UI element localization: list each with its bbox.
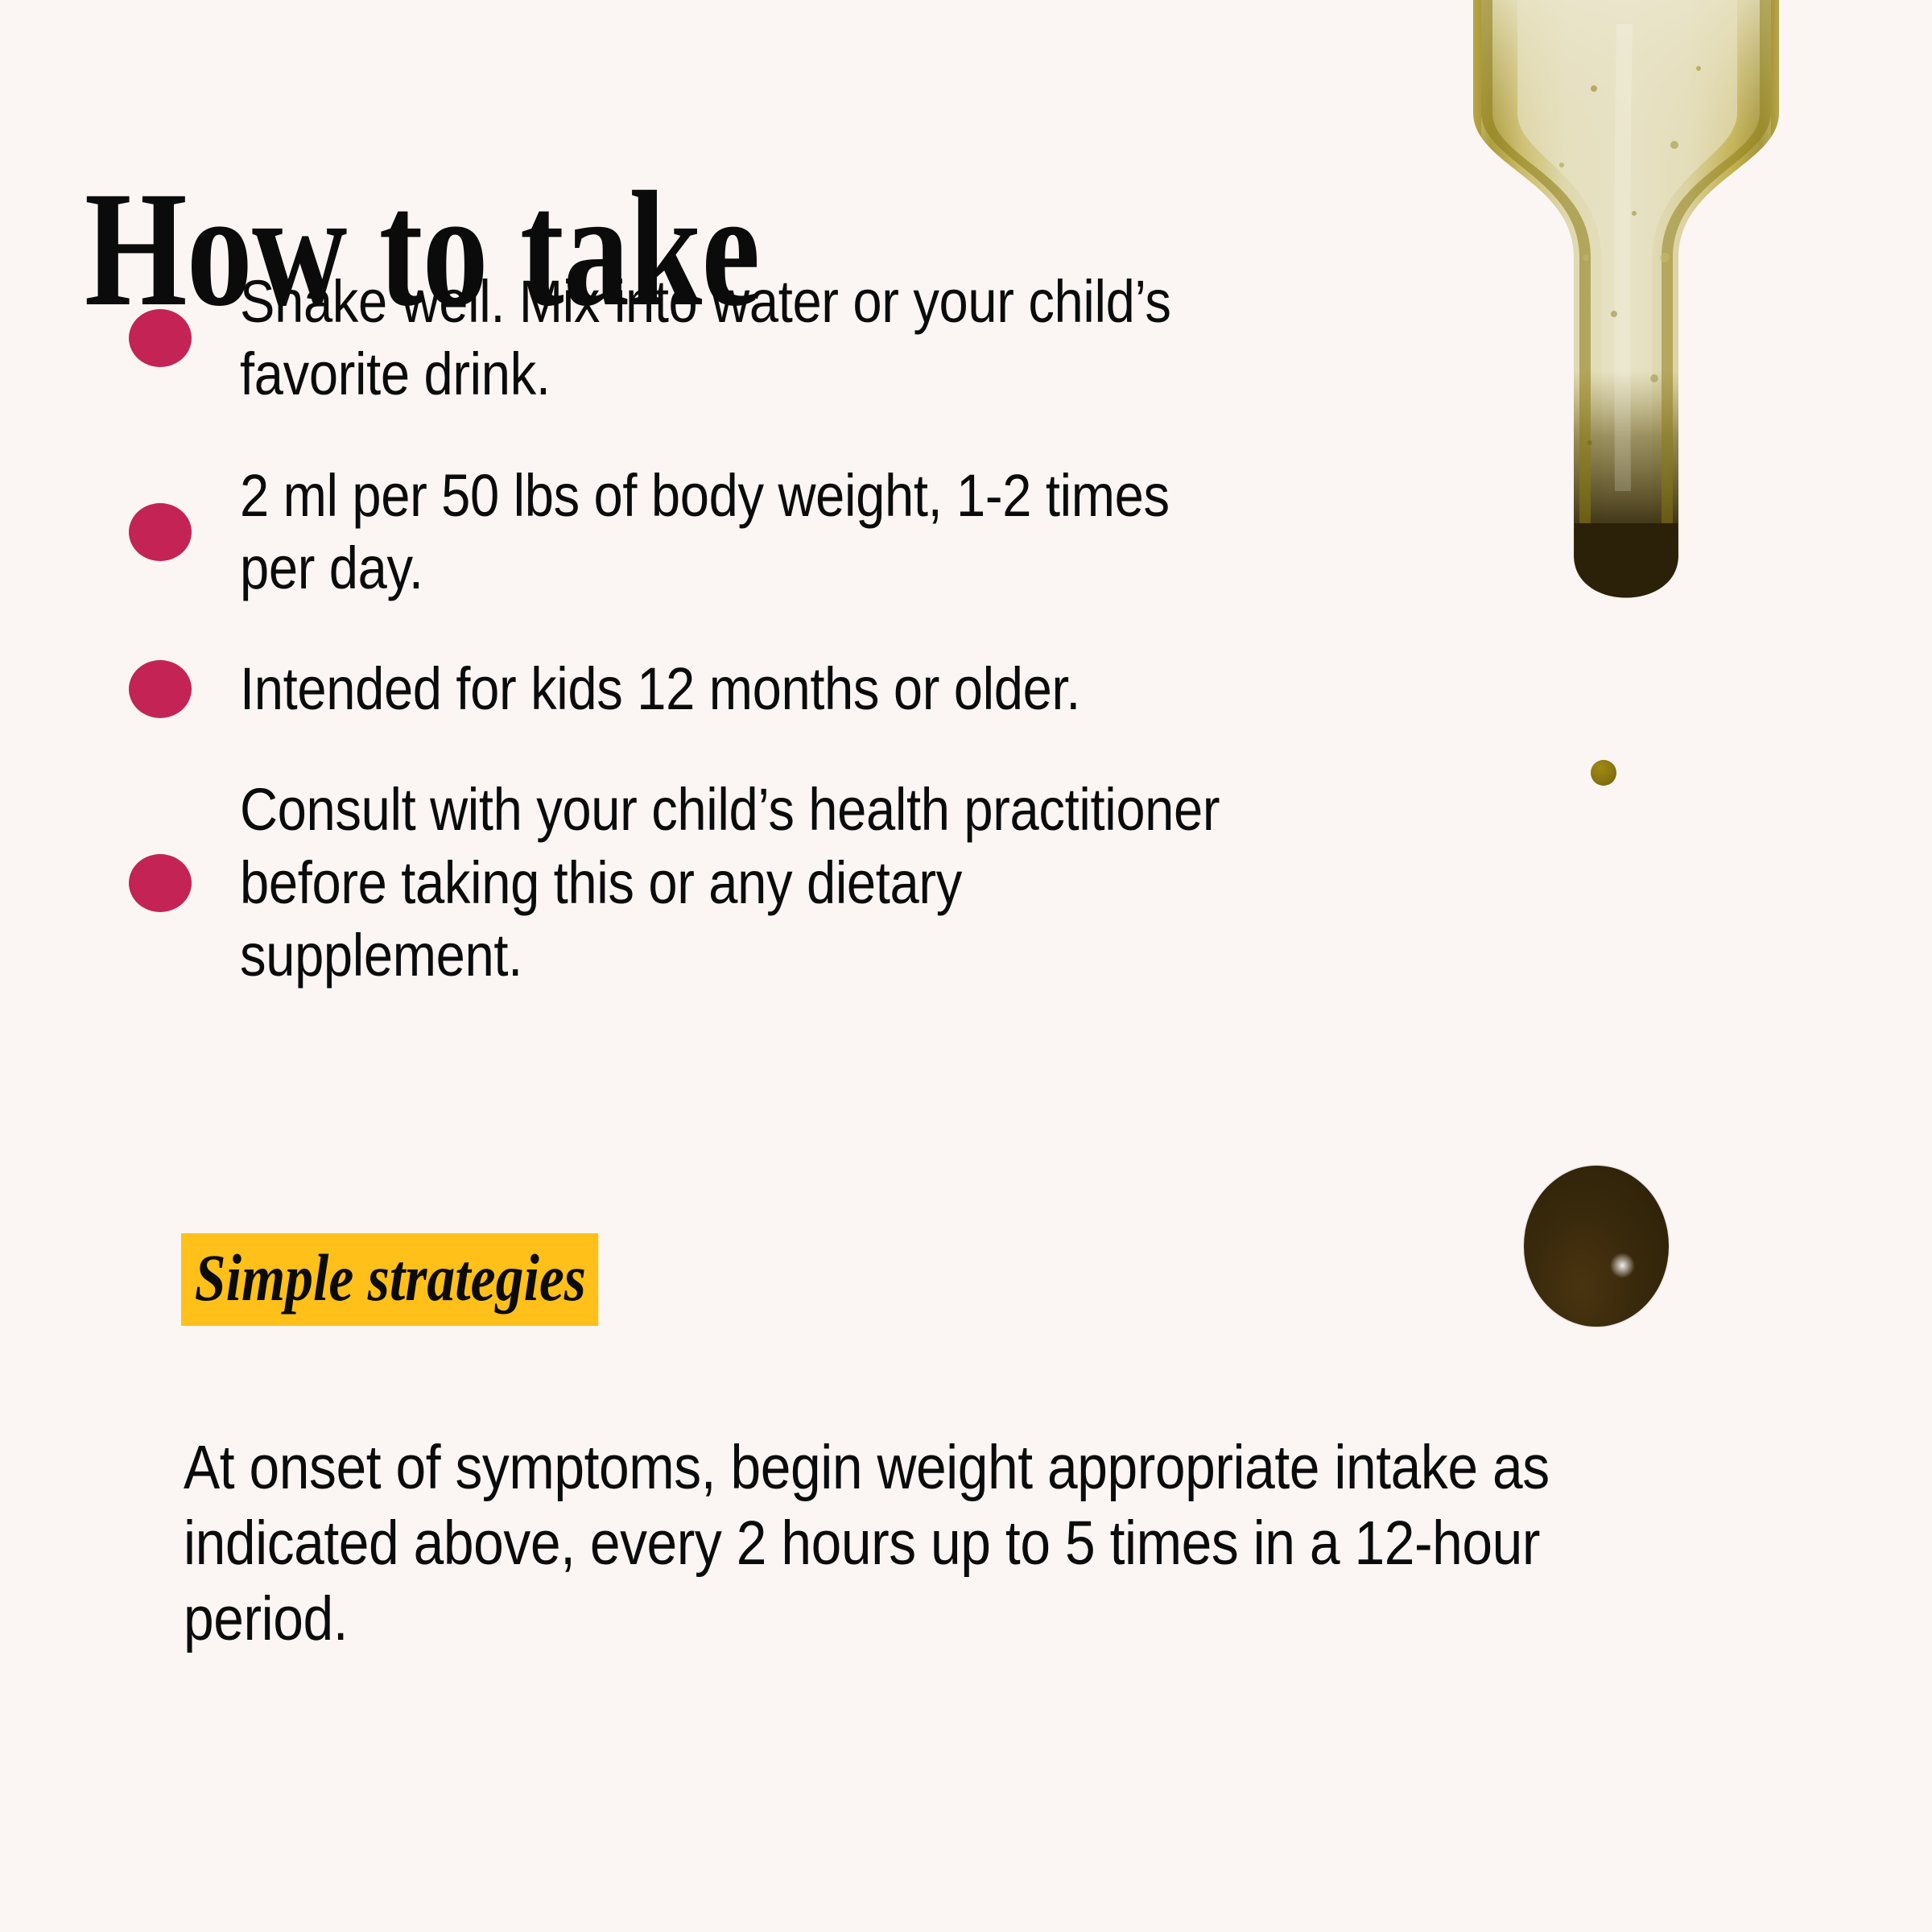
oil-droplet-large-icon bbox=[1524, 1166, 1669, 1327]
glass-dropper-icon bbox=[1433, 0, 1819, 668]
bullet-dot-icon bbox=[129, 309, 192, 367]
list-item-label: Shake well. Mix into water or your child… bbox=[240, 266, 1247, 411]
list-item-label: Intended for kids 12 months or older. bbox=[240, 653, 1247, 725]
list-item: Intended for kids 12 months or older. bbox=[129, 653, 1385, 725]
bullet-dot-icon bbox=[129, 660, 192, 718]
bullet-dot-icon bbox=[129, 503, 192, 561]
simple-strategies-body-text: At onset of symptoms, begin weight appro… bbox=[184, 1430, 1686, 1657]
list-item: Consult with your child’s health practit… bbox=[129, 774, 1385, 992]
list-item-label: 2 ml per 50 lbs of body weight, 1-2 time… bbox=[240, 460, 1247, 605]
how-to-take-bullet-list: Shake well. Mix into water or your child… bbox=[129, 266, 1385, 992]
simple-strategies-heading-wrapper: Simple strategies bbox=[181, 1233, 678, 1326]
bullet-dot-icon bbox=[129, 854, 192, 912]
list-item: Shake well. Mix into water or your child… bbox=[129, 266, 1385, 411]
list-item-label: Consult with your child’s health practit… bbox=[240, 774, 1247, 992]
simple-strategies-heading: Simple strategies bbox=[181, 1233, 598, 1326]
how-to-take-card: How to take Shake well. Mix into water o… bbox=[0, 0, 1932, 1932]
oil-droplet-small-icon bbox=[1591, 760, 1616, 786]
list-item: 2 ml per 50 lbs of body weight, 1-2 time… bbox=[129, 460, 1385, 605]
